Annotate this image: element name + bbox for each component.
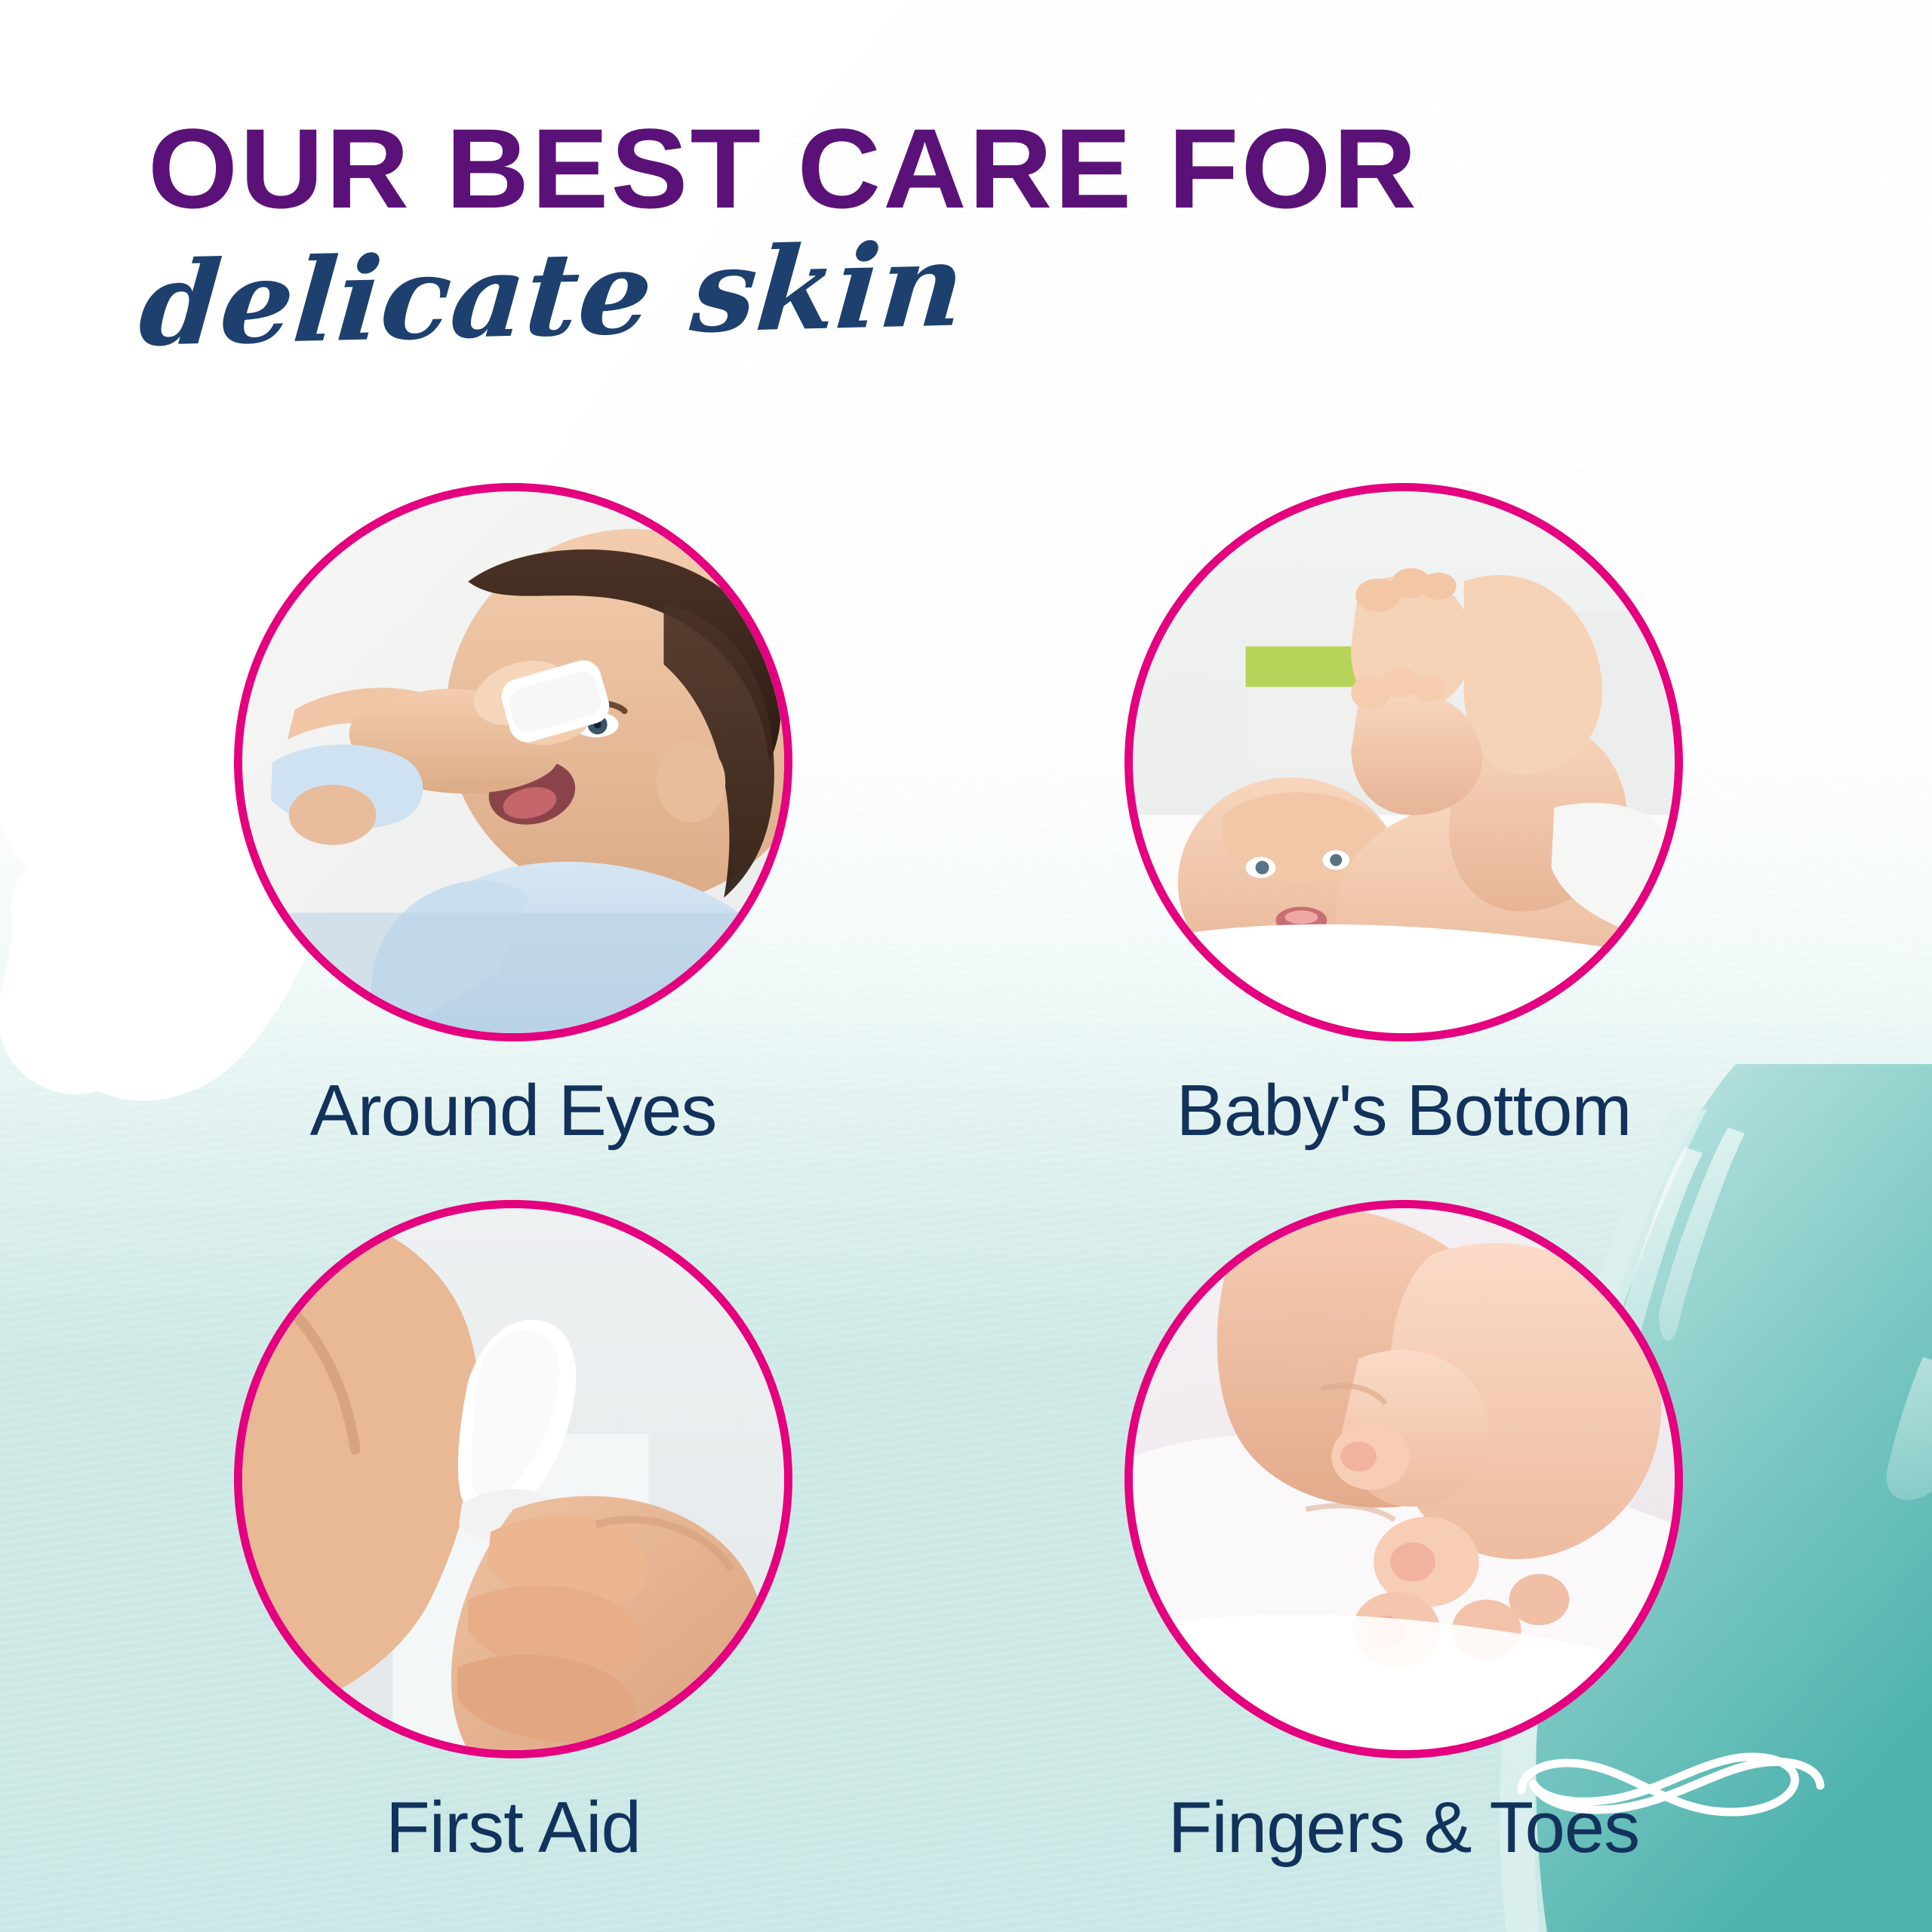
- headline-primary: OUR BEST CARE FOR: [148, 112, 1534, 225]
- benefit-card-around-eyes[interactable]: Around Eyes: [83, 483, 943, 1147]
- headline-script: delicate skin: [135, 216, 1204, 368]
- caption-babys-bottom: Baby's Bottom: [974, 1075, 1834, 1147]
- photo-first-aid: [242, 1208, 784, 1750]
- benefit-card-babys-bottom[interactable]: Baby's Bottom: [974, 483, 1834, 1147]
- infinity-ribbon-flourish-icon: [1508, 1694, 1832, 1844]
- photo-ring-babys-bottom: [1124, 483, 1683, 1041]
- poster-canvas: OUR BEST CARE FOR delicate skin: [0, 0, 1932, 1932]
- photo-ring-fingers-and-toes: [1124, 1200, 1683, 1758]
- photo-ring-around-eyes: [234, 483, 792, 1041]
- caption-first-aid: First Aid: [83, 1792, 943, 1864]
- headline-block: OUR BEST CARE FOR: [148, 112, 1506, 225]
- benefit-card-first-aid[interactable]: First Aid: [83, 1200, 943, 1864]
- caption-around-eyes: Around Eyes: [83, 1075, 943, 1147]
- photo-babys-bottom: [1133, 491, 1675, 1033]
- photo-around-eyes: [242, 491, 784, 1033]
- photo-fingers-and-toes: [1133, 1208, 1675, 1750]
- photo-ring-first-aid: [234, 1200, 792, 1758]
